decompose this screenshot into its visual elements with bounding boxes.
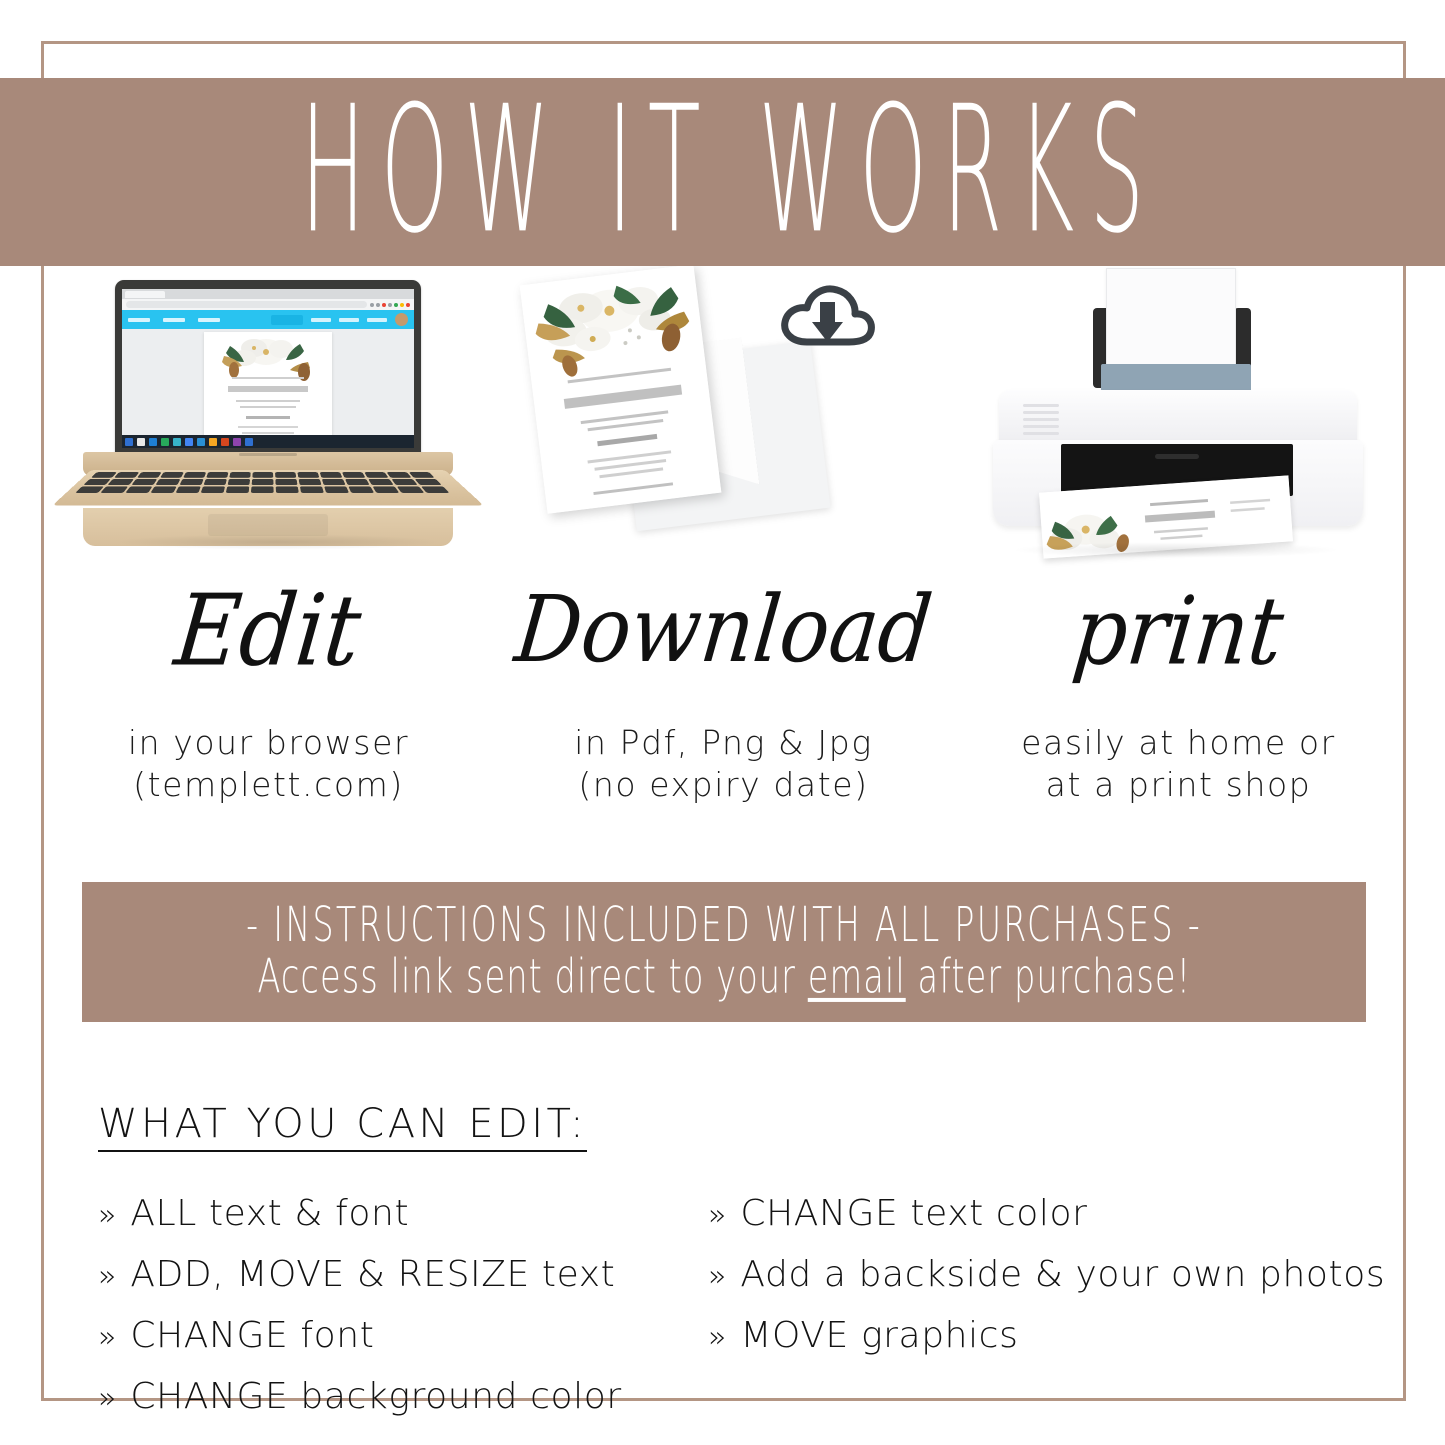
list-item: » MOVE graphics	[708, 1318, 1388, 1354]
invitation-floral-art	[520, 264, 722, 514]
printer-illustration	[951, 266, 1406, 566]
laptop-lid	[115, 280, 421, 457]
script-text: print	[1069, 584, 1288, 678]
list-item: » ADD, MOVE & RESIZE text	[98, 1257, 708, 1293]
floral-invitation-graphic	[204, 332, 332, 445]
caption-line-1: in Pdf, Png & Jpg	[496, 722, 951, 764]
list-item-label: Add a backside & your own photos	[740, 1257, 1385, 1293]
caption-line-1: in your browser	[41, 722, 496, 764]
laptop-shadow	[113, 534, 443, 550]
bullet-icon: »	[98, 1262, 116, 1292]
editor-toolbar	[122, 310, 414, 329]
edit-list-left: » ALL text & font » ADD, MOVE & RESIZE t…	[98, 1196, 708, 1440]
bullet-icon: »	[708, 1201, 726, 1231]
caption-line-1: easily at home or	[951, 722, 1406, 764]
browser-extension-icons	[370, 303, 410, 307]
laptop-screen	[122, 289, 414, 448]
list-item: » Add a backside & your own photos	[708, 1257, 1388, 1293]
list-item-label: ADD, MOVE & RESIZE text	[130, 1257, 615, 1293]
laptop-trackpad	[208, 514, 328, 536]
step-download: Download in Pdf, Png & Jpg (no expiry da…	[496, 266, 951, 806]
script-text: Download	[511, 585, 936, 677]
bullet-icon: »	[708, 1323, 726, 1353]
list-item-label: ALL text & font	[130, 1196, 409, 1232]
os-taskbar	[122, 435, 414, 448]
browser-tab	[125, 291, 165, 298]
step-script-label-edit: Edit	[41, 566, 496, 696]
banner-subline-after: after purchase!	[905, 951, 1190, 1005]
laptop-icon	[83, 280, 453, 550]
caption-line-2: (no expiry date)	[496, 764, 951, 806]
list-item-label: CHANGE background color	[130, 1379, 621, 1415]
main-content: Edit in your browser (templett.com)	[41, 266, 1406, 1401]
edit-list-right: » CHANGE text color » Add a backside & y…	[708, 1196, 1388, 1440]
instructions-banner: - INSTRUCTIONS INCLUDED WITH ALL PURCHAS…	[82, 882, 1366, 1022]
step-edit: Edit in your browser (templett.com)	[41, 266, 496, 806]
caption-line-2: at a print shop	[951, 764, 1406, 806]
new-tab-icon	[167, 291, 174, 298]
steps-row: Edit in your browser (templett.com)	[41, 266, 1406, 806]
invitation-preview	[204, 332, 332, 445]
cloud-download-icon	[779, 280, 875, 356]
editor-canvas	[122, 329, 414, 448]
step-script-label-print: print	[951, 566, 1406, 696]
page-title: HOW IT WORKS	[285, 85, 1159, 260]
printer-shadow	[1011, 542, 1341, 558]
bullet-icon: »	[98, 1323, 116, 1353]
url-input	[126, 301, 367, 308]
printer-icon	[981, 268, 1376, 558]
avatar	[395, 313, 408, 326]
browser-tab-bar	[122, 289, 414, 299]
download-button-mini	[271, 315, 303, 325]
email-link[interactable]: email	[807, 951, 905, 1005]
script-text: Edit	[171, 582, 365, 681]
list-item: » CHANGE background color	[98, 1379, 708, 1415]
caption-line-2: (templett.com)	[41, 764, 496, 806]
invitation-card-front	[520, 264, 722, 514]
list-item-label: CHANGE font	[130, 1318, 374, 1354]
list-item: » ALL text & font	[98, 1196, 708, 1232]
bullet-icon: »	[98, 1201, 116, 1231]
cards-illustration	[496, 266, 951, 566]
banner-headline: - INSTRUCTIONS INCLUDED WITH ALL PURCHAS…	[246, 902, 1202, 950]
list-item: » CHANGE text color	[708, 1196, 1388, 1232]
laptop-keyboard	[52, 470, 483, 506]
editor-actions	[271, 313, 408, 326]
step-caption-download: in Pdf, Png & Jpg (no expiry date)	[496, 722, 951, 806]
bullet-icon: »	[708, 1262, 726, 1292]
step-script-label-download: Download	[496, 566, 951, 696]
bullet-icon: »	[98, 1384, 116, 1414]
blank-paper-stack	[1106, 268, 1236, 376]
step-print: print easily at home or at a print shop	[951, 266, 1406, 806]
browser-url-bar	[122, 299, 414, 310]
printer-vents	[1023, 404, 1059, 432]
laptop-illustration	[41, 266, 496, 566]
list-item-label: MOVE graphics	[740, 1318, 1018, 1354]
keyboard-keys	[75, 472, 461, 493]
banner-subline-before: Access link sent direct to your	[257, 951, 807, 1005]
edit-section-heading: WHAT YOU CAN EDIT:	[98, 1104, 587, 1152]
edit-lists: » ALL text & font » ADD, MOVE & RESIZE t…	[98, 1196, 1388, 1440]
editor-menu	[128, 318, 220, 322]
step-caption-edit: in your browser (templett.com)	[41, 722, 496, 806]
banner-subline: Access link sent direct to your email af…	[257, 955, 1191, 1002]
invitation-set-icon	[521, 274, 931, 554]
header-band: HOW IT WORKS	[0, 78, 1445, 266]
list-item: » CHANGE font	[98, 1318, 708, 1354]
step-caption-print: easily at home or at a print shop	[951, 722, 1406, 806]
list-item-label: CHANGE text color	[740, 1196, 1087, 1232]
